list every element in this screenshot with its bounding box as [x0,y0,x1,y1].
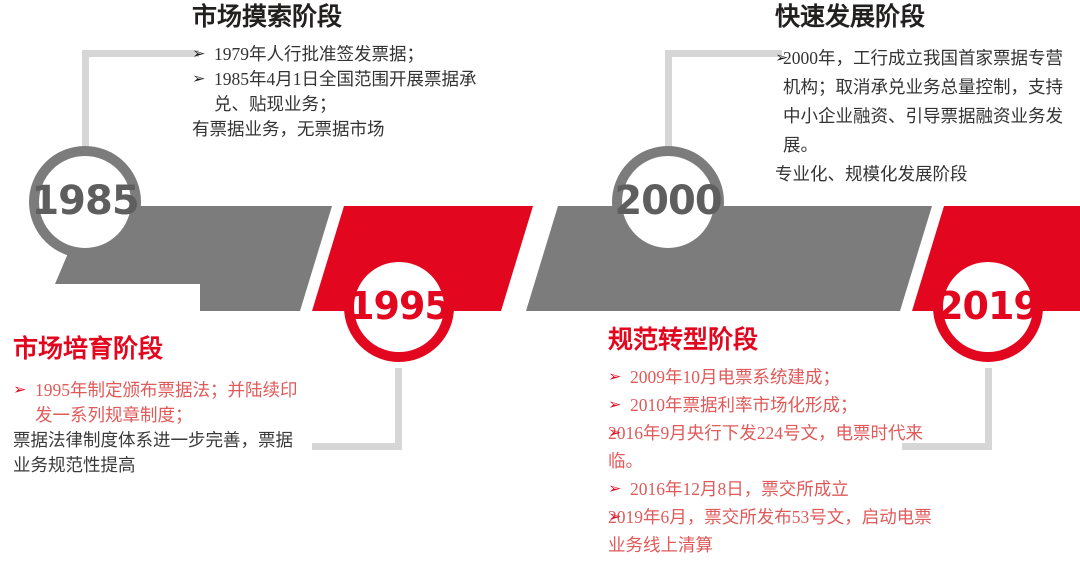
phase-summary-1985: 有票据业务，无票据市场 [192,117,502,142]
milestone-label-2019: 2019 [929,283,1047,329]
connector-1985 [82,50,199,153]
list-item: ➢ 1985年4月1日全国范围开展票据承兑、贴现业务； [192,67,502,117]
phase-title-1995: 市场培育阶段 [13,334,303,364]
list-item: ➢ 2010年票据利率市场化形成； [608,391,943,419]
list-item-label: 1985年4月1日全国范围开展票据承兑、贴现业务； [214,67,502,117]
bullet-arrow-icon: ➢ [775,44,800,73]
phase-title-1985: 市场摸索阶段 [192,2,502,32]
list-item-label: 2019年6月，票交所发布53号文，启动电票业务线上清算 [608,503,943,559]
phase-block-1985: 市场摸索阶段 ➢ 1979年人行批准签发票据； ➢ 1985年4月1日全国范围开… [192,2,502,142]
bullet-arrow-icon: ➢ [192,42,217,67]
list-item-label: 2016年9月央行下发224号文，电票时代来临。 [608,419,943,475]
phase-block-2019: 规范转型阶段 ➢ 2009年10月电票系统建成； ➢ 2010年票据利率市场化形… [608,325,943,559]
phase-body-2019: ➢ 2009年10月电票系统建成； ➢ 2010年票据利率市场化形成； ➢ 20… [608,363,943,559]
ribbon-gray-3 [526,206,932,311]
phase-block-2000: 快速发展阶段 ➢ 2000年，工行成立我国首家票据专营机构；取消承兑业务总量控制… [775,2,1075,189]
list-item-label: 2010年票据利率市场化形成； [630,391,943,419]
list-item-label: 1995年制定颁布票据法；并陆续印发一系列规章制度； [35,378,303,428]
phase-body-2000: ➢ 2000年，工行成立我国首家票据专营机构；取消承兑业务总量控制，支持中小企业… [775,44,1075,189]
seg-gray-c [526,206,932,311]
timeline-infographic: 1985 1995 2000 2019 市场摸索阶段 ➢ 1979年人行批准签发… [0,0,1080,574]
list-item: ➢ 1995年制定颁布票据法；并陆续印发一系列规章制度； [13,378,303,428]
phase-summary-2000: 专业化、规模化发展阶段 [775,160,1075,189]
list-item-label: 2016年12月8日，票交所成立 [630,475,943,503]
list-item: ➢ 1979年人行批准签发票据； [192,42,502,67]
list-item: ➢ 2019年6月，票交所发布53号文，启动电票业务线上清算 [608,503,943,559]
bullet-arrow-icon: ➢ [608,419,633,447]
bullet-arrow-icon: ➢ [13,378,38,403]
phase-title-2000: 快速发展阶段 [775,2,1075,32]
phase-block-1995: 市场培育阶段 ➢ 1995年制定颁布票据法；并陆续印发一系列规章制度； 票据法律… [13,334,303,478]
milestone-label-2000: 2000 [608,177,728,225]
list-item: ➢ 2016年9月央行下发224号文，电票时代来临。 [608,419,943,475]
connector-1995 [312,368,402,450]
bullet-arrow-icon: ➢ [608,363,633,391]
bullet-arrow-icon: ➢ [608,391,633,419]
list-item-label: 1979年人行批准签发票据； [214,42,502,67]
bullet-arrow-icon: ➢ [608,475,633,503]
list-item-label: 2000年，工行成立我国首家票据专营机构；取消承兑业务总量控制，支持中小企业融资… [783,44,1075,160]
list-item: ➢ 2016年12月8日，票交所成立 [608,475,943,503]
ribbon-segment-1995 [310,206,530,284]
bullet-arrow-icon: ➢ [608,503,633,531]
milestone-label-1995: 1995 [340,283,458,329]
bullet-arrow-icon: ➢ [192,67,217,92]
connector-2000 [665,50,782,153]
list-item: ➢ 2000年，工行成立我国首家票据专营机构；取消承兑业务总量控制，支持中小企业… [775,44,1075,160]
phase-body-1985: ➢ 1979年人行批准签发票据； ➢ 1985年4月1日全国范围开展票据承兑、贴… [192,42,502,142]
phase-body-1995: ➢ 1995年制定颁布票据法；并陆续印发一系列规章制度； 票据法律制度体系进一步… [13,378,303,478]
phase-summary-1995: 票据法律制度体系进一步完善，票据业务规范性提高 [13,428,303,478]
list-item: ➢ 2009年10月电票系统建成； [608,363,943,391]
milestone-label-1985: 1985 [25,177,145,225]
phase-title-2019: 规范转型阶段 [608,325,943,355]
list-item-label: 2009年10月电票系统建成； [630,363,943,391]
